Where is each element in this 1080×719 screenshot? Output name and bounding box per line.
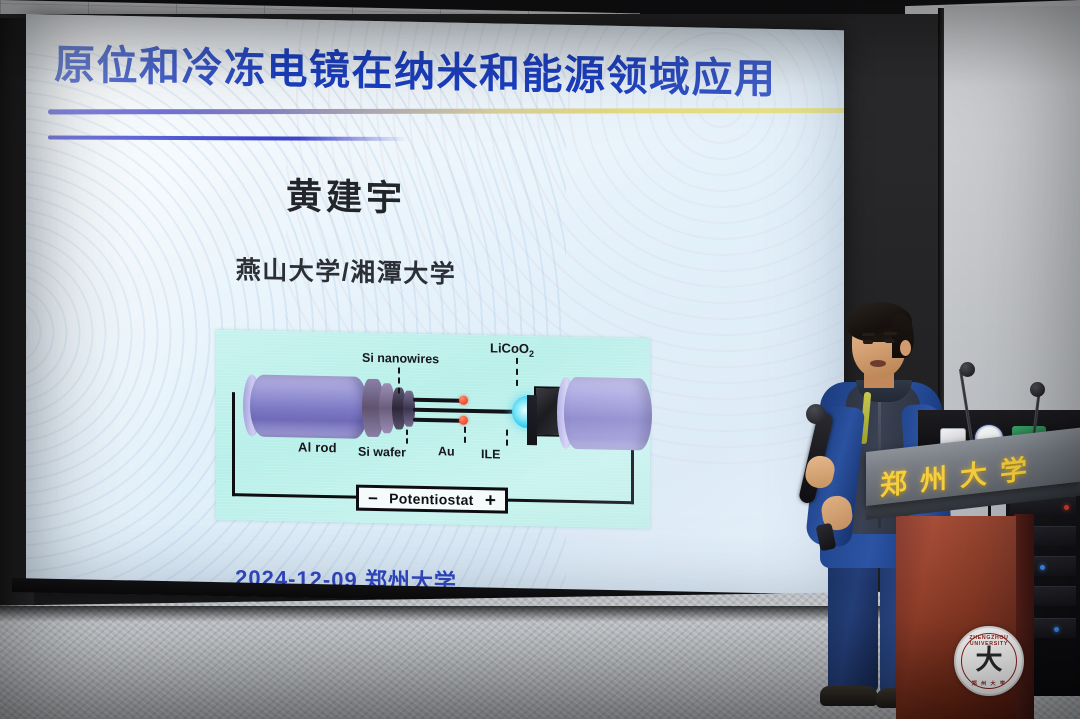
al-rod-electrode: Al rod <box>250 374 368 438</box>
potentiostat-negative-terminal: − <box>368 489 378 506</box>
emblem-text-bottom: 郑 州 大 学 <box>956 680 1022 687</box>
label-si-nanowires: Si nanowires <box>362 351 439 367</box>
university-emblem: ZHENGZHOU UNIVERSITY 大 郑 州 大 学 <box>954 626 1024 696</box>
au-contact-dot-bottom <box>459 416 468 425</box>
potentiostat-box: − Potentiostat + <box>356 485 508 514</box>
speaker-eye-right <box>885 339 895 343</box>
gooseneck-microphone-head-2 <box>1030 382 1045 397</box>
label-ile: ILE <box>481 447 500 461</box>
experiment-schematic-figure: Al rod Si nanowir <box>216 330 650 529</box>
counter-electrode-rod <box>564 377 652 451</box>
emblem-glyph: 大 <box>976 647 1003 674</box>
leader-line-si-nanowires <box>398 367 400 393</box>
lectern: ZHENGZHOU UNIVERSITY 大 郑 州 大 学 郑州大学 <box>866 452 1080 719</box>
leader-line-licoo2 <box>516 358 518 386</box>
speaker-ear <box>900 340 911 356</box>
label-licoo2: LiCoO2 <box>490 340 534 358</box>
label-licoo2-text: LiCoO <box>490 340 529 356</box>
slide-surface: 原位和冷冻电镜在纳米和能源领域应用 黄建宇 燕山大学/湘潭大学 Al rod <box>26 14 844 608</box>
label-si-wafer: Si wafer <box>358 445 406 460</box>
potentiostat-positive-terminal: + <box>485 491 496 510</box>
leader-line-si-wafer <box>406 430 408 444</box>
speaker-eyebrow-left <box>862 333 875 336</box>
speaker-eyebrow-right <box>884 332 897 335</box>
projection-screen: 原位和冷冻电镜在纳米和能源领域应用 黄建宇 燕山大学/湘潭大学 Al rod <box>26 14 844 608</box>
lectern-front-panel: ZHENGZHOU UNIVERSITY 大 郑 州 大 学 <box>896 516 1016 719</box>
leader-line-ile <box>506 430 508 446</box>
lectern-side-panel <box>1014 514 1034 719</box>
au-contact-dot-top <box>459 396 468 405</box>
gooseneck-microphone-head-1 <box>960 362 975 377</box>
speaker-eye-left <box>863 340 873 344</box>
potentiostat-label: Potentiostat <box>389 490 474 508</box>
presentation-photo-scene: 原位和冷冻电镜在纳米和能源领域应用 黄建宇 燕山大学/湘潭大学 Al rod <box>0 0 1080 719</box>
leader-line-au <box>464 427 466 443</box>
al-rod-label: Al rod <box>298 439 337 455</box>
label-au: Au <box>438 444 455 458</box>
label-licoo2-subscript: 2 <box>529 349 534 359</box>
speaker-mouth <box>870 360 886 367</box>
